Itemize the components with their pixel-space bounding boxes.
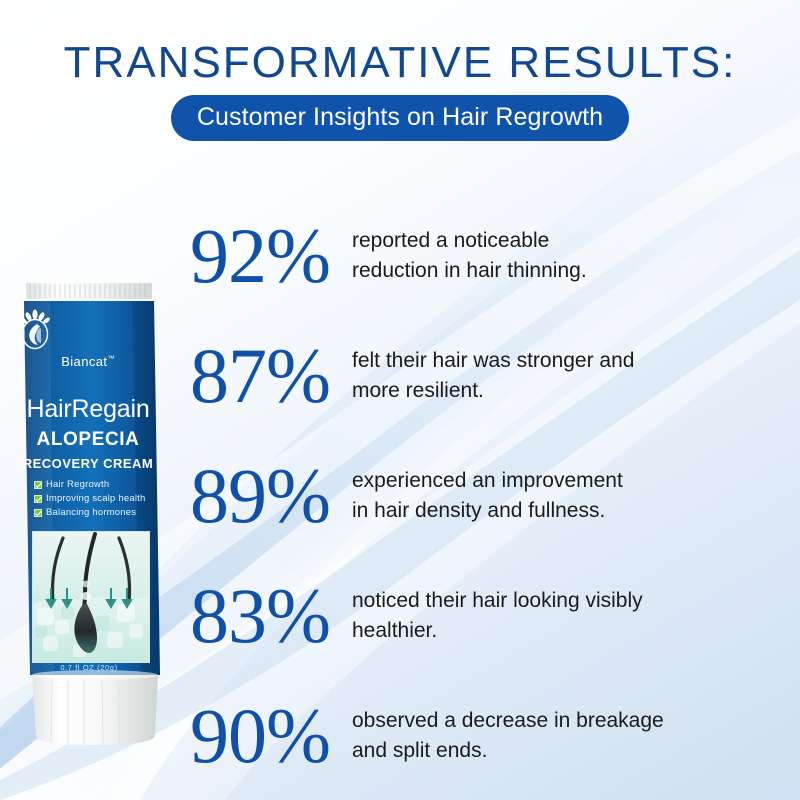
stat-description: experienced an improvement in hair densi… xyxy=(352,466,800,526)
subtitle-pill-wrap: Customer Insights on Hair Regrowth xyxy=(0,95,800,141)
stat-percent: 89% xyxy=(170,457,352,535)
stat-description: noticed their hair looking visibly healt… xyxy=(352,586,800,646)
stat-row: 90% observed a decrease in breakage and … xyxy=(170,676,800,796)
stat-line-2: healthier. xyxy=(352,616,800,646)
stat-line-1: reported a noticeable xyxy=(352,229,549,252)
stat-row: 83% noticed their hair looking visibly h… xyxy=(170,556,800,676)
stat-percent: 83% xyxy=(170,577,352,655)
stat-percent: 90% xyxy=(170,697,352,775)
stat-percent: 87% xyxy=(170,337,352,415)
statistics-list: 92% reported a noticeable reduction in h… xyxy=(170,196,800,796)
headline-block: TRANSFORMATIVE RESULTS: Customer Insight… xyxy=(0,40,800,141)
subtitle-pill: Customer Insights on Hair Regrowth xyxy=(171,95,629,141)
stat-line-2: in hair density and fullness. xyxy=(352,496,800,526)
stat-description: reported a noticeable reduction in hair … xyxy=(352,226,800,286)
stat-percent: 92% xyxy=(170,217,352,295)
stat-line-1: felt their hair was stronger and xyxy=(352,349,634,372)
stat-description: felt their hair was stronger and more re… xyxy=(352,346,800,406)
stat-line-1: noticed their hair looking visibly xyxy=(352,589,643,612)
stat-line-1: observed a decrease in breakage xyxy=(352,709,664,732)
stat-row: 89% experienced an improvement in hair d… xyxy=(170,436,800,556)
stat-row: 87% felt their hair was stronger and mor… xyxy=(170,316,800,436)
stat-line-2: more resilient. xyxy=(352,376,800,406)
poster-canvas: TRANSFORMATIVE RESULTS: Customer Insight… xyxy=(0,0,800,800)
stat-line-2: and split ends. xyxy=(352,736,800,766)
page-title: TRANSFORMATIVE RESULTS: xyxy=(0,40,800,86)
stat-line-2: reduction in hair thinning. xyxy=(352,256,800,286)
product-tube: Biancat™ HairRegain ALOPECIA RECOVERY CR… xyxy=(12,283,164,745)
stat-description: observed a decrease in breakage and spli… xyxy=(352,706,800,766)
stat-row: 92% reported a noticeable reduction in h… xyxy=(170,196,800,316)
stat-line-1: experienced an improvement xyxy=(352,469,623,492)
